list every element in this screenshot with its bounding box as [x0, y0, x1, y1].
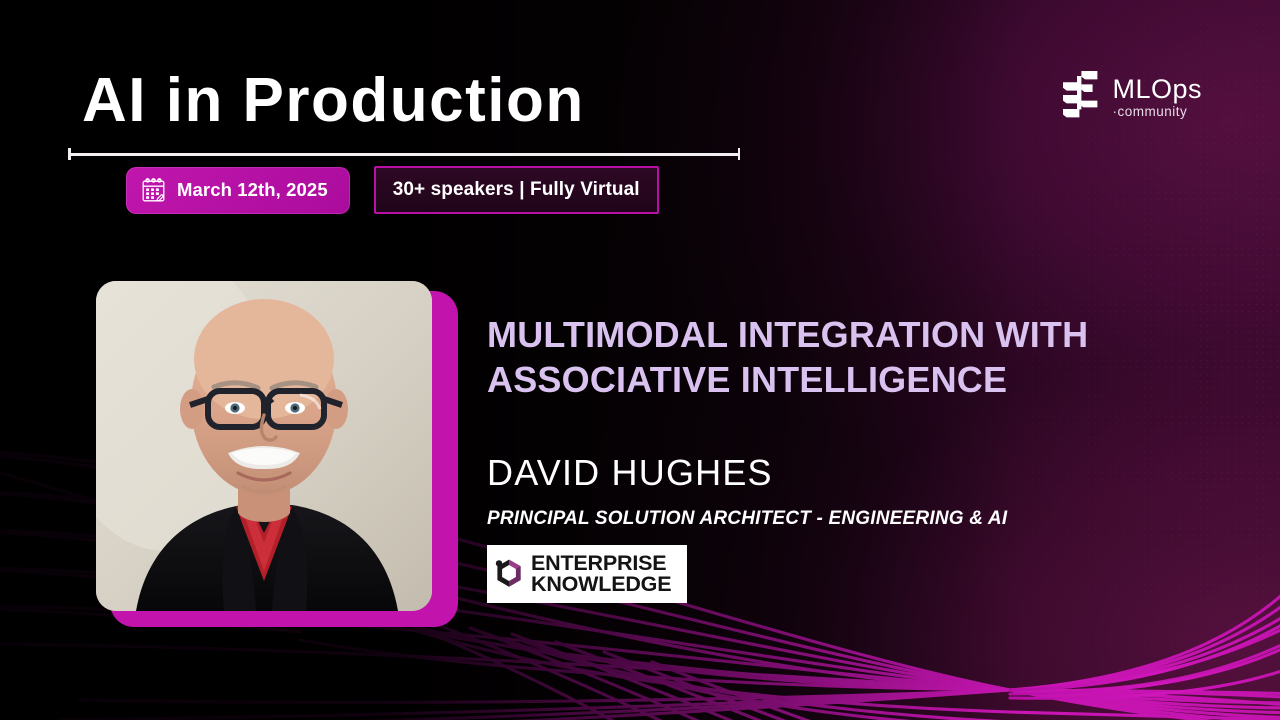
event-title: AI in Production	[82, 70, 585, 132]
rule-bar	[68, 153, 740, 156]
company-name-line1: ENTERPRISE	[531, 553, 671, 575]
title-underline-rule	[68, 148, 740, 160]
speaker-role: PRINCIPAL SOLUTION ARCHITECT - ENGINEERI…	[487, 508, 1007, 530]
speakers-info-label: 30+ speakers | Fully Virtual	[393, 179, 640, 201]
date-badge: March 12th, 2025	[126, 167, 350, 214]
rule-cap-right	[738, 148, 741, 160]
talk-title: MULTIMODAL INTEGRATION WITH ASSOCIATIVE …	[487, 312, 1187, 403]
enterprise-knowledge-hexagon-icon	[492, 557, 526, 591]
calendar-icon	[141, 177, 166, 203]
mlops-tagline: ·community	[1112, 104, 1187, 119]
speaker-card: AI in Production	[0, 0, 1280, 720]
enterprise-knowledge-logo: ENTERPRISE KNOWLEDGE	[487, 545, 687, 603]
speakers-info-badge: 30+ speakers | Fully Virtual	[374, 166, 659, 214]
event-badges: March 12th, 2025 30+ speakers | Fully Vi…	[126, 166, 659, 214]
speaker-portrait	[96, 281, 432, 611]
mlops-flow-mark-icon	[1061, 70, 1099, 124]
speaker-portrait-frame	[96, 281, 444, 621]
company-name-line2: KNOWLEDGE	[531, 574, 671, 596]
mlops-wordmark: MLOps ·community	[1112, 75, 1202, 119]
enterprise-knowledge-wordmark: ENTERPRISE KNOWLEDGE	[531, 553, 671, 596]
mlops-community-logo: MLOps ·community	[1061, 70, 1202, 124]
speaker-name: DAVID HUGHES	[487, 452, 773, 494]
mlops-brand-name: MLOps	[1112, 75, 1202, 103]
date-badge-label: March 12th, 2025	[177, 179, 328, 201]
